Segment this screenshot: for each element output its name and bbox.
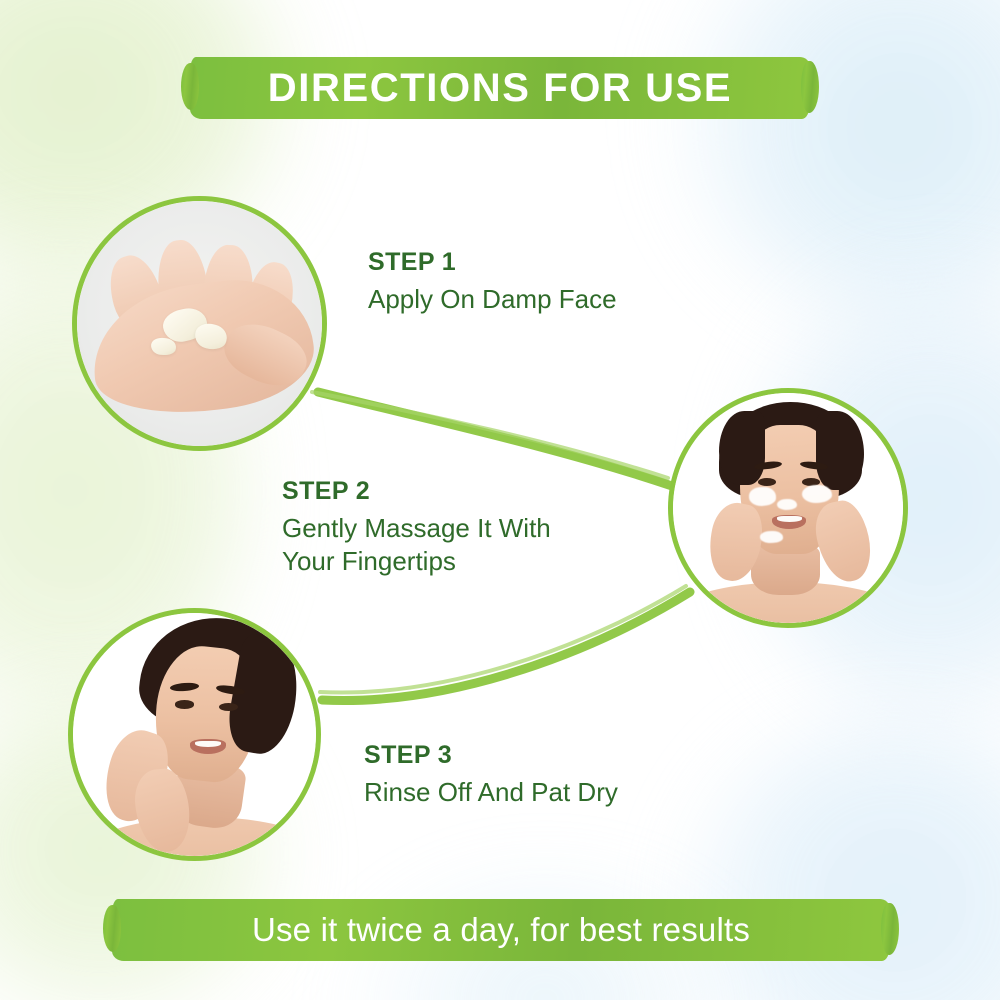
footer-text: Use it twice a day, for best results	[252, 911, 750, 949]
foam-patch	[760, 531, 783, 543]
directions-for-use-infographic: DIRECTIONS FOR USE STEP 1 Apply On Damp …	[0, 0, 1000, 1000]
step-3-image-circle	[68, 608, 321, 861]
foam-patch	[749, 487, 777, 505]
step-3-label: STEP 3	[364, 741, 618, 770]
step-1-image-circle	[72, 196, 327, 451]
blue-wash-top-right	[670, 0, 1000, 320]
page-title: DIRECTIONS FOR USE	[268, 66, 732, 111]
eye-left	[175, 700, 194, 708]
step-2-image-circle	[668, 388, 908, 628]
step-3-description: Rinse Off And Pat Dry	[364, 776, 618, 809]
step-2-description-line-2: Your Fingertips	[282, 545, 551, 578]
hair-side-left	[719, 411, 765, 485]
step-2-label: STEP 2	[282, 477, 551, 506]
footer-banner: Use it twice a day, for best results	[112, 899, 890, 961]
step-3-text: STEP 3 Rinse Off And Pat Dry	[364, 741, 618, 809]
step-1-label: STEP 1	[368, 248, 617, 277]
title-banner: DIRECTIONS FOR USE	[190, 57, 810, 119]
hand-with-product-icon	[77, 201, 322, 446]
step-2-description-line-1: Gently Massage It With	[282, 512, 551, 545]
step-1-text: STEP 1 Apply On Damp Face	[368, 248, 617, 316]
foam-patch	[802, 485, 832, 503]
step-2-text: STEP 2 Gently Massage It With Your Finge…	[282, 477, 551, 579]
step-1-description: Apply On Damp Face	[368, 283, 617, 316]
woman-massaging-face-icon	[673, 393, 903, 623]
woman-clean-face-icon	[73, 613, 316, 856]
